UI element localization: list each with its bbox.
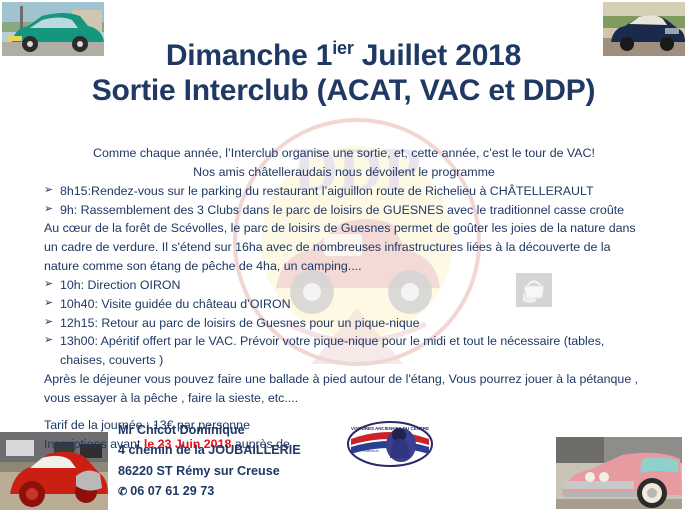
schedule-item-3: ➢ 10h40: Visite guidée du château d’OIRO… bbox=[44, 295, 644, 314]
bullet-arrow-icon: ➢ bbox=[44, 201, 53, 218]
flyer-body: Comme chaque année, l’Interclub organise… bbox=[44, 144, 644, 454]
title-line-1-post: Juillet 2018 bbox=[354, 39, 522, 72]
schedule-item-0-text: 8h15:Rendez-vous sur le parking du resta… bbox=[60, 184, 594, 198]
title-block: Dimanche 1ier Juillet 2018 Sortie Interc… bbox=[0, 38, 687, 109]
page-title-line-1: Dimanche 1ier Juillet 2018 bbox=[0, 38, 687, 74]
bullet-arrow-icon: ➢ bbox=[44, 182, 53, 199]
bullet-arrow-icon: ➢ bbox=[44, 332, 53, 349]
page-title-line-2: Sortie Interclub (ACAT, VAC et DDP) bbox=[0, 74, 687, 109]
schedule-item-4: ➢ 12h15: Retour au parc de loisirs de Gu… bbox=[44, 314, 644, 333]
schedule-item-1-text: 9h: Rassemblement des 3 Clubs dans le pa… bbox=[60, 203, 624, 217]
schedule-item-2-text: 10h: Direction OIRON bbox=[60, 278, 181, 292]
picnic-basket-icon bbox=[516, 273, 552, 307]
svg-text:VOITURES ANCIENNES DU CENTRE: VOITURES ANCIENNES DU CENTRE bbox=[351, 426, 429, 431]
contact-phone-number: 06 07 61 29 73 bbox=[130, 484, 214, 498]
contact-name: Mr Chicot Dominique bbox=[118, 420, 301, 440]
bullet-arrow-icon: ➢ bbox=[44, 295, 53, 312]
phone-icon: ✆ bbox=[118, 484, 127, 502]
title-line-1-superscript: ier bbox=[332, 38, 353, 58]
schedule-item-2: ➢ 10h: Direction OIRON bbox=[44, 276, 644, 295]
bullet-arrow-icon: ➢ bbox=[44, 314, 53, 331]
club-badge-logo: VOITURES ANCIENNES DU CENTRE Sortie Inte… bbox=[347, 421, 433, 467]
svg-text:Interclub: Interclub bbox=[363, 448, 379, 453]
park-description: Au cœur de la forêt de Scévolles, le par… bbox=[44, 219, 644, 276]
afternoon-description: Après le déjeuner vous pouvez faire une … bbox=[44, 370, 644, 408]
schedule-item-3-text: 10h40: Visite guidée du château d’OIRON bbox=[60, 297, 291, 311]
title-line-1-pre: Dimanche 1 bbox=[166, 39, 332, 72]
contact-street: 4 chemin de la JOUBAILLERIE bbox=[118, 440, 301, 460]
schedule-item-5-text: 13h00: Apéritif offert par le VAC. Prévo… bbox=[60, 334, 604, 367]
bullet-arrow-icon: ➢ bbox=[44, 276, 53, 293]
schedule-item-1: ➢ 9h: Rassemblement des 3 Clubs dans le … bbox=[44, 201, 644, 220]
contact-city: 86220 ST Rémy sur Creuse bbox=[118, 461, 301, 481]
flyer-page: DDP bbox=[0, 0, 687, 515]
schedule-item-4-text: 12h15: Retour au parc de loisirs de Gues… bbox=[60, 316, 420, 330]
contact-phone-row: ✆06 07 61 29 73 bbox=[118, 481, 301, 502]
schedule-item-0: ➢ 8h15:Rendez-vous sur le parking du res… bbox=[44, 182, 644, 201]
schedule-item-5: ➢ 13h00: Apéritif offert par le VAC. Pré… bbox=[44, 332, 644, 370]
intro-line-1: Comme chaque année, l’Interclub organise… bbox=[44, 144, 644, 163]
contact-block: Mr Chicot Dominique 4 chemin de la JOUBA… bbox=[118, 420, 301, 502]
intro-line-2: Nos amis châtelleraudais nous dévoilent … bbox=[44, 163, 644, 182]
